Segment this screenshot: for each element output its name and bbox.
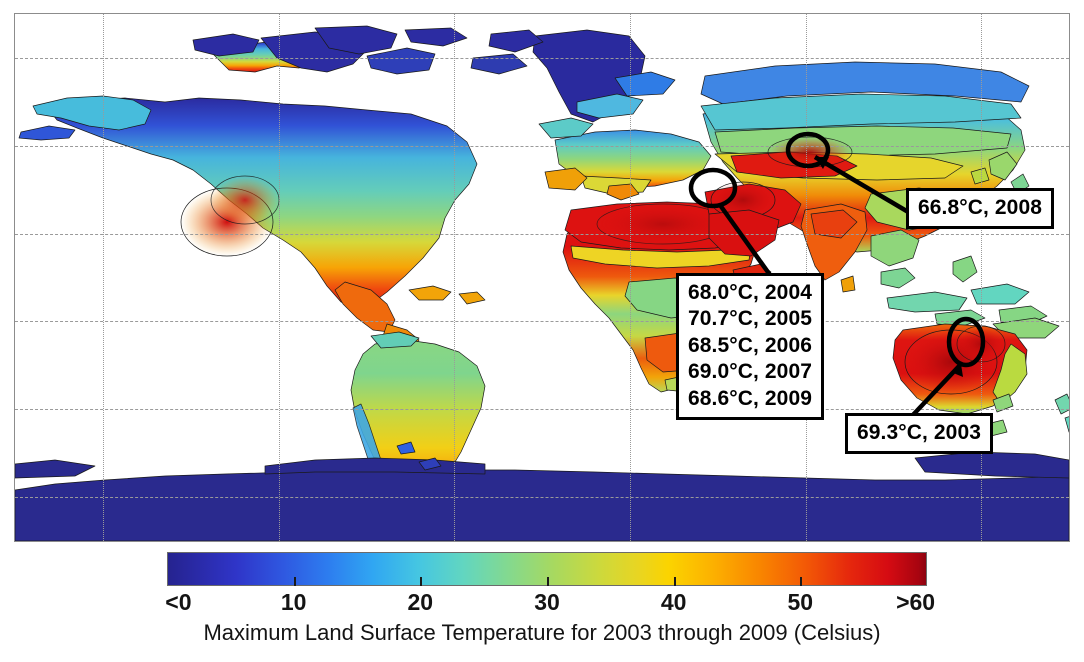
colorbar-label-6: >60 bbox=[896, 589, 935, 616]
callout-mideast-line-2: 68.5°C, 2006 bbox=[688, 333, 812, 359]
colorbar-tick-1 bbox=[420, 577, 422, 586]
callout-mideast-line-0: 68.0°C, 2004 bbox=[688, 280, 812, 306]
callout-mideast-line-3: 69.0°C, 2007 bbox=[688, 359, 812, 385]
colorbar-tick-4 bbox=[800, 577, 802, 586]
figure-caption: Maximum Land Surface Temperature for 200… bbox=[0, 620, 1084, 646]
temperature-raster bbox=[15, 14, 1069, 541]
colorbar-label-3: 30 bbox=[534, 589, 560, 616]
callout-mideast-line-4: 68.6°C, 2009 bbox=[688, 386, 812, 412]
callout-asia: 66.8°C, 2008 bbox=[906, 188, 1054, 229]
world-map-figure bbox=[14, 13, 1070, 542]
colorbar-labels: <0 10 20 30 40 50 >60 bbox=[167, 589, 927, 619]
colorbar-tick-0 bbox=[294, 577, 296, 586]
callout-mideast: 68.0°C, 2004 70.7°C, 2005 68.5°C, 2006 6… bbox=[676, 273, 824, 420]
colorbar-label-1: 10 bbox=[281, 589, 307, 616]
colorbar-label-2: 20 bbox=[408, 589, 434, 616]
callout-asia-line-0: 66.8°C, 2008 bbox=[918, 195, 1042, 221]
colorbar-tick-2 bbox=[547, 577, 549, 586]
callout-australia-line-0: 69.3°C, 2003 bbox=[857, 420, 981, 446]
colorbar-label-0: <0 bbox=[165, 589, 191, 616]
callout-mideast-line-1: 70.7°C, 2005 bbox=[688, 306, 812, 332]
colorbar-tick-3 bbox=[674, 577, 676, 586]
callout-australia: 69.3°C, 2003 bbox=[845, 413, 993, 454]
colorbar: <0 10 20 30 40 50 >60 bbox=[167, 552, 927, 619]
colorbar-label-4: 40 bbox=[661, 589, 687, 616]
colorbar-label-5: 50 bbox=[788, 589, 814, 616]
